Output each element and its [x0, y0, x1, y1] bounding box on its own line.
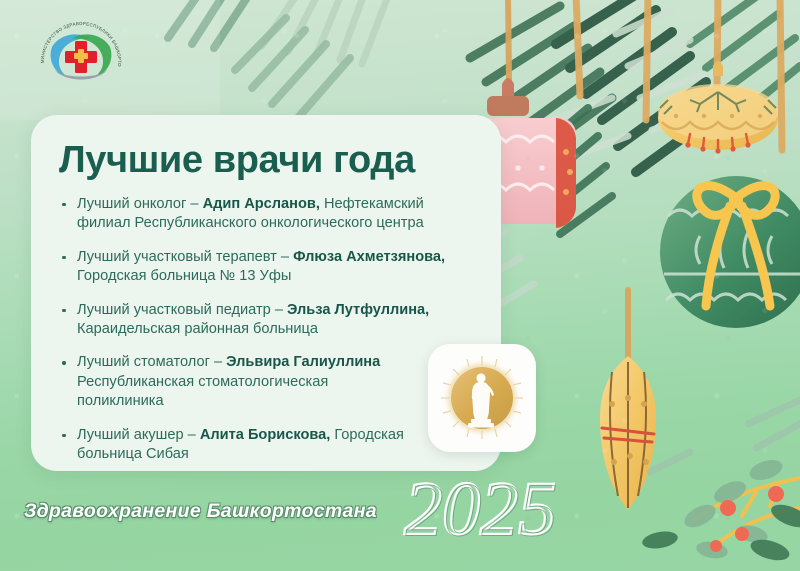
award-name: Эльвира Галиуллина: [226, 354, 380, 370]
award-name: Эльза Лутфуллина,: [287, 302, 429, 318]
award-name: Адип Арсланов,: [203, 196, 320, 212]
award-org: Городская больница № 13 Уфы: [77, 268, 291, 284]
award-name: Флюза Ахметзянова,: [293, 249, 445, 265]
bullet-icon: [62, 256, 66, 260]
list-item: Лучший стоматолог – Эльвира Галиуллина Р…: [57, 353, 417, 411]
new-year-award-poster: МИНИСТЕРСТВО ЗДРАВООХРАНЕНИЯ РЕСПУБЛИКИ …: [0, 0, 800, 571]
award-org: Караидельская районная больница: [77, 321, 318, 337]
gold-bauble-ornament: [658, 61, 778, 154]
year-text-shadow: 2025: [406, 469, 558, 553]
gold-medal-statuette-badge: [428, 344, 536, 452]
list-item: Лучший участковый педиатр – Эльза Лутфул…: [57, 301, 467, 340]
award-lead: Лучший стоматолог –: [77, 354, 226, 370]
award-list: Лучший онколог – Адип Арсланов, Нефтекам…: [57, 195, 479, 464]
red-berry-branch-decoration: [641, 456, 800, 564]
award-org: Республиканская стоматологическая поликл…: [77, 374, 328, 409]
bullet-icon: [62, 434, 66, 438]
bullet-icon: [62, 203, 66, 207]
award-lead: Лучший участковый педиатр –: [77, 302, 287, 318]
green-bauble-with-bow-ornament: [660, 176, 800, 328]
list-item: Лучший участковый терапевт – Флюза Ахмет…: [57, 248, 467, 287]
gold-teardrop-ornament: [600, 356, 656, 510]
award-lead: Лучший акушер –: [77, 427, 200, 443]
award-name: Алита Борискова,: [200, 427, 330, 443]
year-label: 2025 2025: [400, 466, 600, 556]
bullet-icon: [62, 361, 66, 365]
ministry-of-health-bashkortostan-logo: МИНИСТЕРСТВО ЗДРАВООХРАНЕНИЯ РЕСПУБЛИКИ …: [34, 17, 128, 97]
gold-medal-icon: [434, 350, 530, 446]
footer-brand-text: Здравоохранение Башкортостана: [24, 500, 377, 523]
award-lead: Лучший онколог –: [77, 196, 203, 212]
award-lead: Лучший участковый терапевт –: [77, 249, 293, 265]
page-title: Лучшие врачи года: [59, 141, 479, 181]
bullet-icon: [62, 309, 66, 313]
list-item: Лучший онколог – Адип Арсланов, Нефтекам…: [57, 195, 467, 234]
list-item: Лучший акушер – Алита Борискова, Городск…: [57, 426, 417, 465]
